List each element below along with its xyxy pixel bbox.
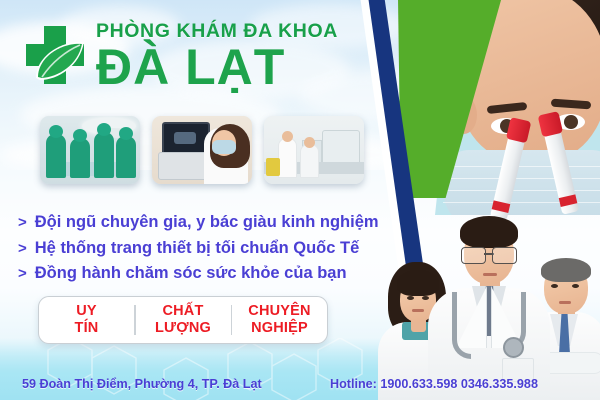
eyeglasses-icon: [461, 247, 517, 262]
feature-item: > Đội ngũ chuyên gia, y bác giàu kinh ng…: [18, 210, 448, 236]
slogan-item-2: CHẤT LƯỢNG: [136, 303, 231, 337]
hotline-numbers: Hotline: 1900.633.598 0346.335.988: [330, 377, 538, 391]
slogan-item-1-line2: TÍN: [39, 320, 134, 337]
feature-item-label: Đồng hành chăm sóc sức khỏe của bạn: [35, 261, 347, 286]
photo-thumbnail-operating-room: [40, 116, 140, 184]
slogan-item-3-line2: NGHIỆP: [232, 320, 327, 337]
feature-item-label: Đội ngũ chuyên gia, y bác giàu kinh nghi…: [35, 210, 379, 235]
brand-title-block: PHÒNG KHÁM ĐA KHOA ĐÀ LẠT: [96, 20, 386, 93]
brand-line-2: ĐÀ LẠT: [96, 41, 386, 93]
clinic-address: 59 Đoàn Thị Điểm, Phường 4, TP. Đà Lạt: [22, 377, 262, 391]
photo-strip: [40, 116, 364, 184]
slogan-item-1-line1: UY: [39, 303, 134, 320]
footer-bar: 59 Đoàn Thị Điểm, Phường 4, TP. Đà Lạt H…: [0, 364, 600, 400]
chevron-right-icon: >: [18, 211, 27, 236]
feature-list: > Đội ngũ chuyên gia, y bác giàu kinh ng…: [18, 210, 448, 287]
chevron-right-icon: >: [18, 237, 27, 262]
feature-item: > Hệ thống trang thiết bị tối chuẩn Quốc…: [18, 236, 448, 262]
slogan-item-3: CHUYÊN NGHIỆP: [232, 303, 327, 337]
clinic-logo-icon: [18, 22, 90, 94]
photo-thumbnail-ultrasound: [152, 116, 252, 184]
slogan-item-2-line1: CHẤT: [136, 303, 231, 320]
slogan-item-1: UY TÍN: [39, 303, 134, 337]
feature-item: > Đồng hành chăm sóc sức khỏe của bạn: [18, 261, 448, 287]
slogan-item-3-line1: CHUYÊN: [232, 303, 327, 320]
clinic-advertisement-banner: PHÒNG KHÁM ĐA KHOA ĐÀ LẠT > Đội n: [0, 0, 600, 400]
feature-item-label: Hệ thống trang thiết bị tối chuẩn Quốc T…: [35, 236, 360, 261]
photo-thumbnail-laboratory: [264, 116, 364, 184]
slogan-item-2-line2: LƯỢNG: [136, 320, 231, 337]
chevron-right-icon: >: [18, 262, 27, 287]
slogan-box: UY TÍN CHẤT LƯỢNG CHUYÊN NGHIỆP: [38, 296, 328, 344]
